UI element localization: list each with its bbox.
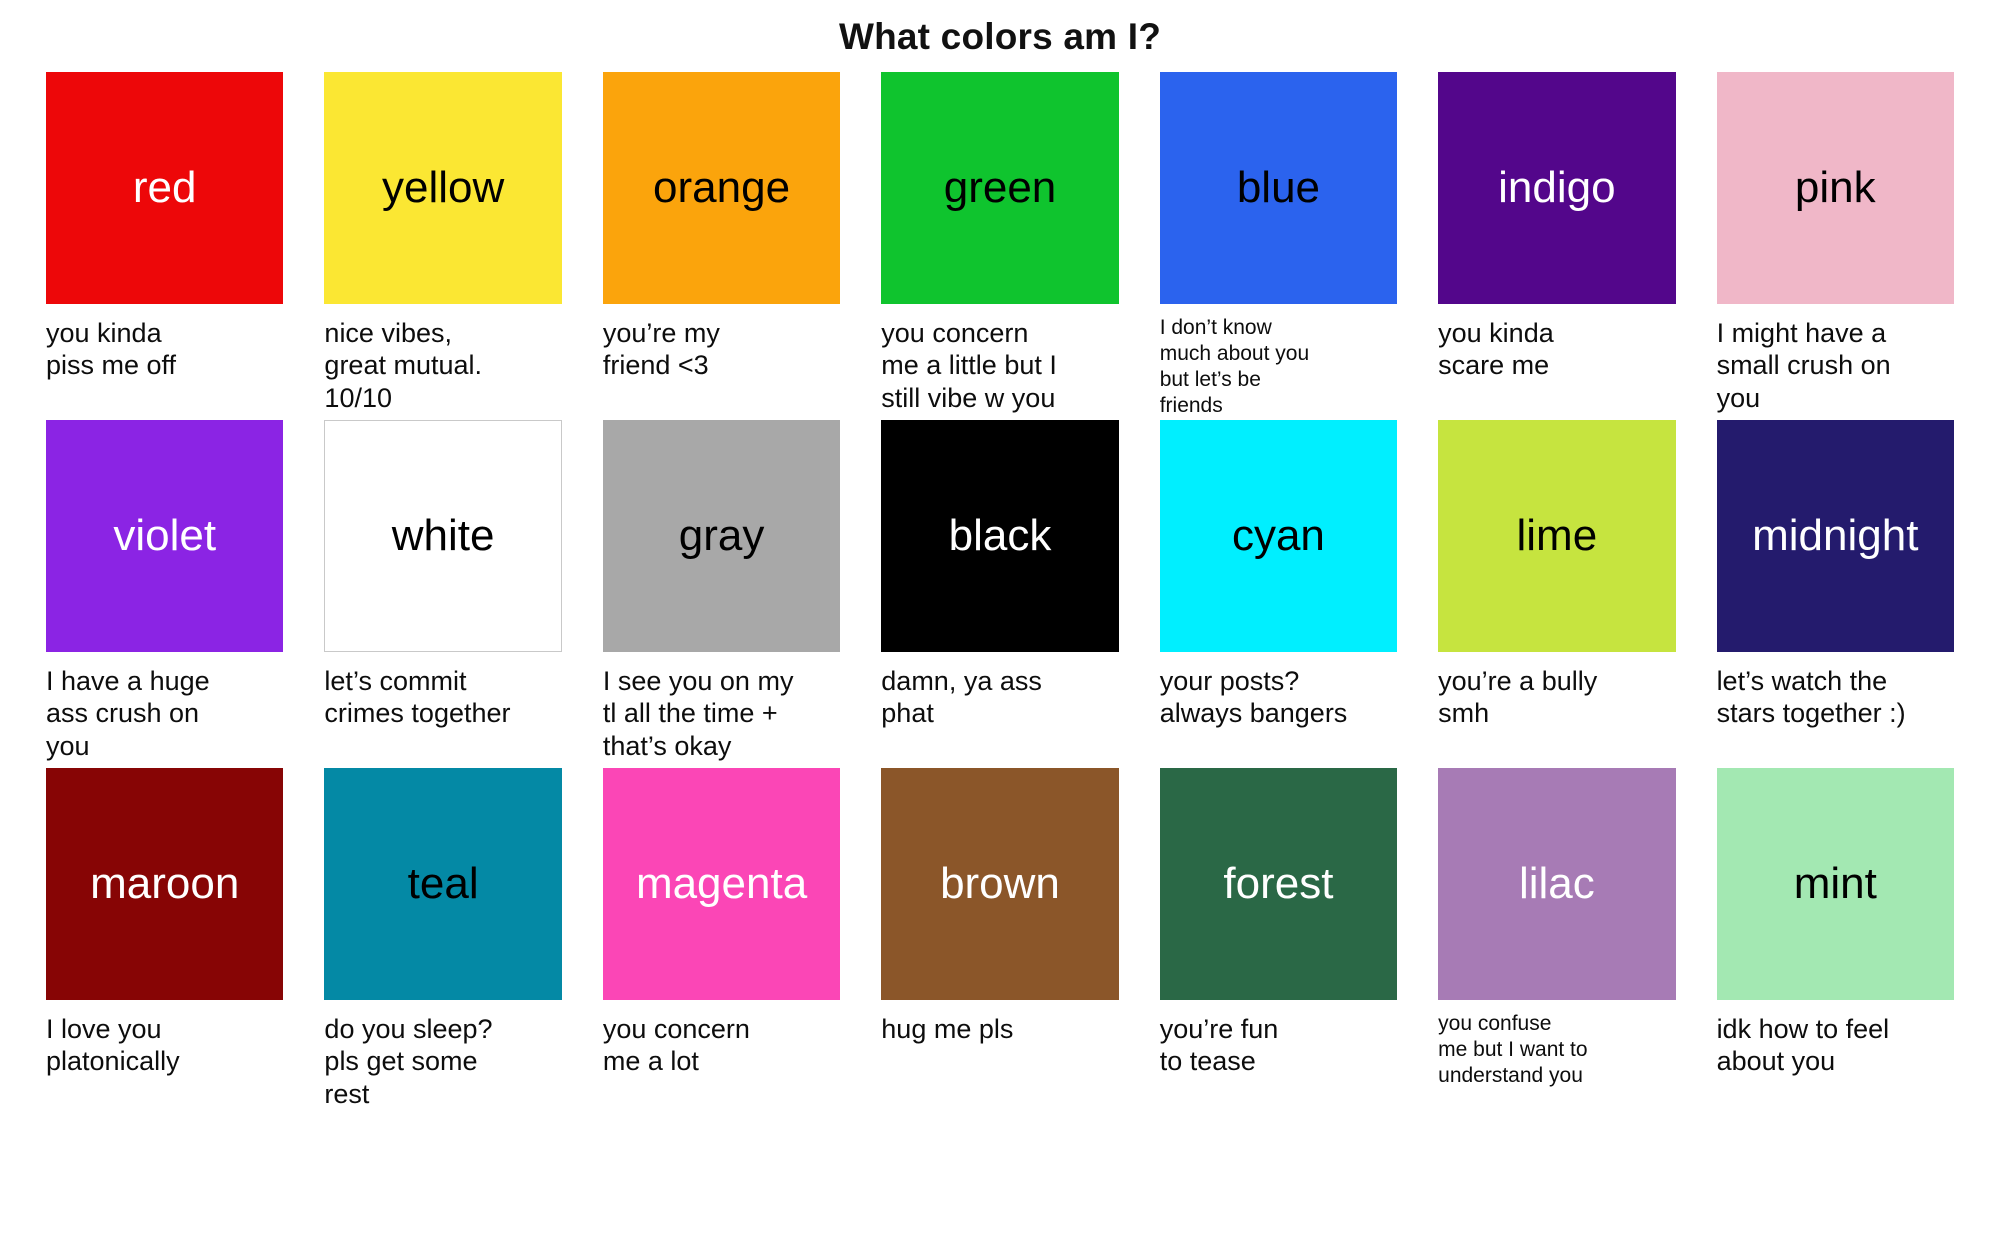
color-cell-cyan: cyanyour posts? always bangers xyxy=(1160,420,1397,768)
color-caption-red: you kinda piss me off xyxy=(46,304,283,383)
color-name-label: yellow xyxy=(382,166,504,210)
color-name-label: blue xyxy=(1237,166,1320,210)
color-caption-brown: hug me pls xyxy=(881,1000,1118,1046)
color-swatch-pink: pink xyxy=(1717,72,1954,304)
color-swatch-lime: lime xyxy=(1438,420,1675,652)
color-swatch-mint: mint xyxy=(1717,768,1954,1000)
color-cell-pink: pinkI might have a small crush on you xyxy=(1717,72,1954,420)
color-cell-orange: orangeyou’re my friend <3 xyxy=(603,72,840,420)
color-caption-lime: you’re a bully smh xyxy=(1438,652,1675,731)
color-swatch-indigo: indigo xyxy=(1438,72,1675,304)
color-name-label: orange xyxy=(653,166,790,210)
color-name-label: midnight xyxy=(1752,514,1918,558)
color-name-label: green xyxy=(944,166,1057,210)
color-cell-magenta: magentayou concern me a lot xyxy=(603,768,840,1116)
color-cell-violet: violetI have a huge ass crush on you xyxy=(46,420,283,768)
color-caption-violet: I have a huge ass crush on you xyxy=(46,652,283,764)
color-name-label: red xyxy=(133,166,197,210)
color-caption-orange: you’re my friend <3 xyxy=(603,304,840,383)
color-caption-maroon: I love you platonically xyxy=(46,1000,283,1079)
color-caption-yellow: nice vibes, great mutual. 10/10 xyxy=(324,304,561,416)
color-swatch-gray: gray xyxy=(603,420,840,652)
color-name-label: indigo xyxy=(1498,166,1615,210)
color-name-label: violet xyxy=(113,514,216,558)
color-row: maroonI love you platonicallytealdo you … xyxy=(46,768,1954,1116)
color-caption-gray: I see you on my tl all the time + that’s… xyxy=(603,652,840,764)
color-cell-lime: limeyou’re a bully smh xyxy=(1438,420,1675,768)
color-swatch-cyan: cyan xyxy=(1160,420,1397,652)
color-caption-indigo: you kinda scare me xyxy=(1438,304,1675,383)
color-name-label: black xyxy=(949,514,1052,558)
color-caption-black: damn, ya ass phat xyxy=(881,652,1118,731)
color-cell-maroon: maroonI love you platonically xyxy=(46,768,283,1116)
color-swatch-teal: teal xyxy=(324,768,561,1000)
color-caption-magenta: you concern me a lot xyxy=(603,1000,840,1079)
color-row: violetI have a huge ass crush on youwhit… xyxy=(46,420,1954,768)
color-caption-lilac: you confuse me but I want to understand … xyxy=(1438,1000,1675,1089)
color-caption-forest: you’re fun to tease xyxy=(1160,1000,1397,1079)
color-cell-lilac: lilacyou confuse me but I want to unders… xyxy=(1438,768,1675,1116)
color-name-label: pink xyxy=(1795,166,1876,210)
color-swatch-violet: violet xyxy=(46,420,283,652)
color-meaning-chart: What colors am I? redyou kinda piss me o… xyxy=(0,0,2000,1250)
color-swatch-white: white xyxy=(324,420,561,652)
color-caption-teal: do you sleep? pls get some rest xyxy=(324,1000,561,1112)
color-cell-indigo: indigoyou kinda scare me xyxy=(1438,72,1675,420)
color-swatch-orange: orange xyxy=(603,72,840,304)
color-cell-red: redyou kinda piss me off xyxy=(46,72,283,420)
color-name-label: white xyxy=(392,514,495,558)
page-title: What colors am I? xyxy=(46,0,1954,72)
color-swatch-forest: forest xyxy=(1160,768,1397,1000)
color-cell-brown: brownhug me pls xyxy=(881,768,1118,1116)
color-cell-gray: grayI see you on my tl all the time + th… xyxy=(603,420,840,768)
color-caption-midnight: let’s watch the stars together :) xyxy=(1717,652,1954,731)
color-name-label: maroon xyxy=(90,862,239,906)
color-caption-blue: I don’t know much about you but let’s be… xyxy=(1160,304,1397,419)
color-caption-white: let’s commit crimes together xyxy=(324,652,561,731)
color-grid: redyou kinda piss me offyellownice vibes… xyxy=(46,72,1954,1116)
color-cell-mint: mintidk how to feel about you xyxy=(1717,768,1954,1116)
color-name-label: forest xyxy=(1223,862,1333,906)
color-name-label: gray xyxy=(679,514,765,558)
color-cell-yellow: yellownice vibes, great mutual. 10/10 xyxy=(324,72,561,420)
color-swatch-midnight: midnight xyxy=(1717,420,1954,652)
color-swatch-lilac: lilac xyxy=(1438,768,1675,1000)
color-swatch-maroon: maroon xyxy=(46,768,283,1000)
color-name-label: lilac xyxy=(1519,862,1595,906)
color-caption-cyan: your posts? always bangers xyxy=(1160,652,1397,731)
color-caption-mint: idk how to feel about you xyxy=(1717,1000,1954,1079)
color-cell-blue: blueI don’t know much about you but let’… xyxy=(1160,72,1397,420)
color-cell-forest: forestyou’re fun to tease xyxy=(1160,768,1397,1116)
color-swatch-brown: brown xyxy=(881,768,1118,1000)
color-caption-green: you concern me a little but I still vibe… xyxy=(881,304,1118,416)
color-row: redyou kinda piss me offyellownice vibes… xyxy=(46,72,1954,420)
color-name-label: brown xyxy=(940,862,1060,906)
color-name-label: mint xyxy=(1794,862,1877,906)
color-cell-teal: tealdo you sleep? pls get some rest xyxy=(324,768,561,1116)
color-cell-white: whitelet’s commit crimes together xyxy=(324,420,561,768)
color-name-label: cyan xyxy=(1232,514,1325,558)
color-cell-green: greenyou concern me a little but I still… xyxy=(881,72,1118,420)
color-swatch-green: green xyxy=(881,72,1118,304)
color-swatch-red: red xyxy=(46,72,283,304)
color-name-label: lime xyxy=(1517,514,1598,558)
color-name-label: teal xyxy=(408,862,479,906)
color-swatch-blue: blue xyxy=(1160,72,1397,304)
color-name-label: magenta xyxy=(636,862,807,906)
color-swatch-magenta: magenta xyxy=(603,768,840,1000)
color-caption-pink: I might have a small crush on you xyxy=(1717,304,1954,416)
color-swatch-black: black xyxy=(881,420,1118,652)
color-cell-midnight: midnightlet’s watch the stars together :… xyxy=(1717,420,1954,768)
color-cell-black: blackdamn, ya ass phat xyxy=(881,420,1118,768)
color-swatch-yellow: yellow xyxy=(324,72,561,304)
